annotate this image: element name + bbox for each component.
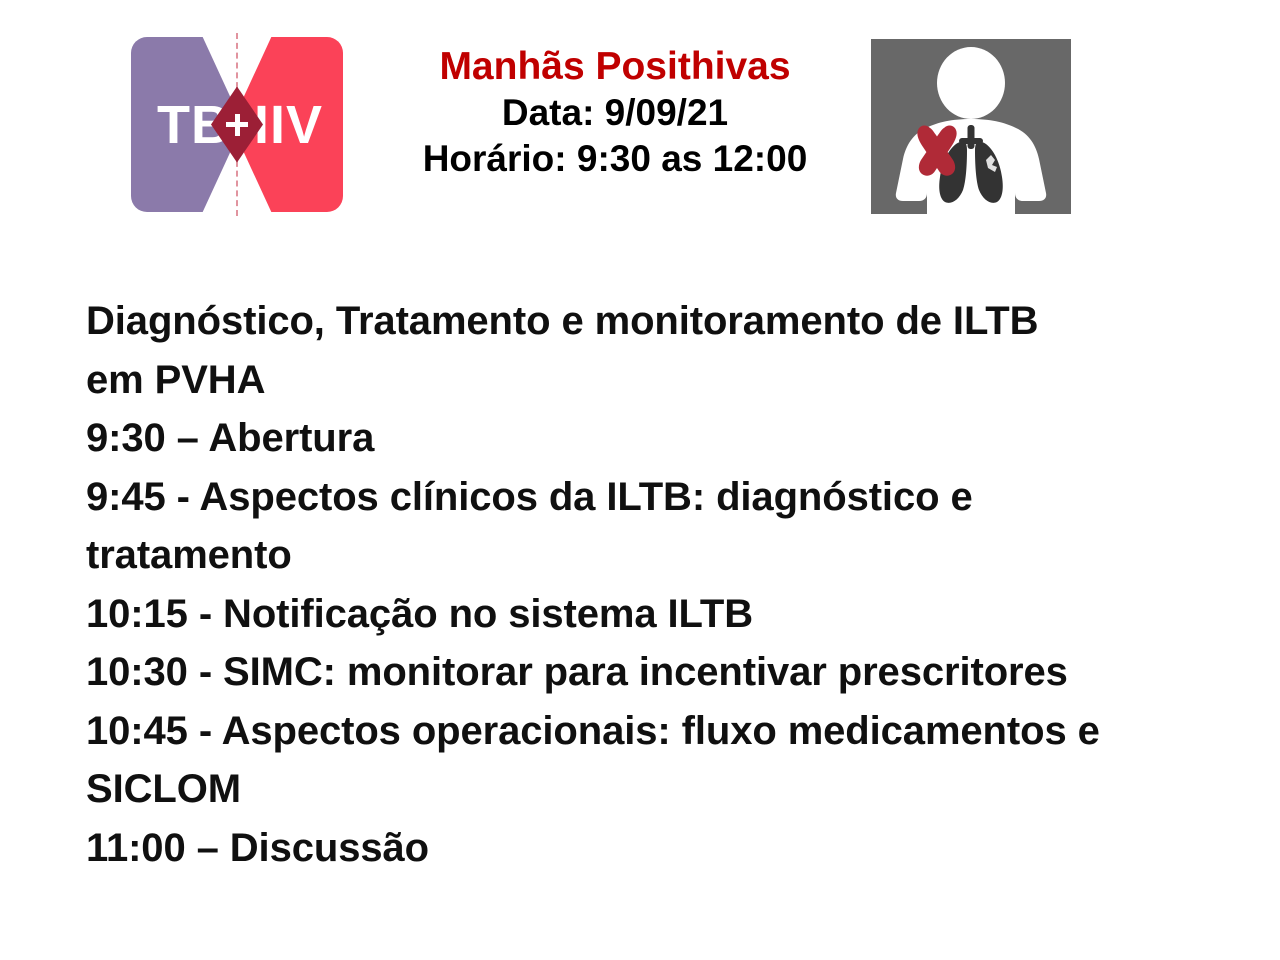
agenda-line: Diagnóstico, Tratamento e monitoramento …	[86, 292, 1216, 351]
tb-hiv-logo: TB HIV	[131, 37, 343, 212]
agenda-line: SICLOM	[86, 760, 1216, 819]
header-region: TB HIV Manhãs Posithivas Data: 9/09/21 H…	[0, 0, 1280, 232]
header-text-block: Manhãs Posithivas Data: 9/09/21 Horário:…	[370, 44, 860, 182]
agenda-list: Diagnóstico, Tratamento e monitoramento …	[86, 292, 1216, 877]
event-date: Data: 9/09/21	[370, 90, 860, 136]
agenda-line: 11:00 – Discussão	[86, 819, 1216, 878]
patient-lungs-ribbon-icon	[871, 39, 1071, 214]
event-time: Horário: 9:30 as 12:00	[370, 136, 860, 182]
agenda-line: 9:30 – Abertura	[86, 409, 1216, 468]
plus-icon	[226, 114, 248, 136]
agenda-line: em PVHA	[86, 351, 1216, 410]
agenda-line: tratamento	[86, 526, 1216, 585]
agenda-line: 9:45 - Aspectos clínicos da ILTB: diagnó…	[86, 468, 1216, 527]
slide-canvas: TB HIV Manhãs Posithivas Data: 9/09/21 H…	[0, 0, 1280, 960]
agenda-line: 10:15 - Notificação no sistema ILTB	[86, 585, 1216, 644]
agenda-line: 10:30 - SIMC: monitorar para incentivar …	[86, 643, 1216, 702]
event-title: Manhãs Posithivas	[370, 44, 860, 90]
agenda-line: 10:45 - Aspectos operacionais: fluxo med…	[86, 702, 1216, 761]
